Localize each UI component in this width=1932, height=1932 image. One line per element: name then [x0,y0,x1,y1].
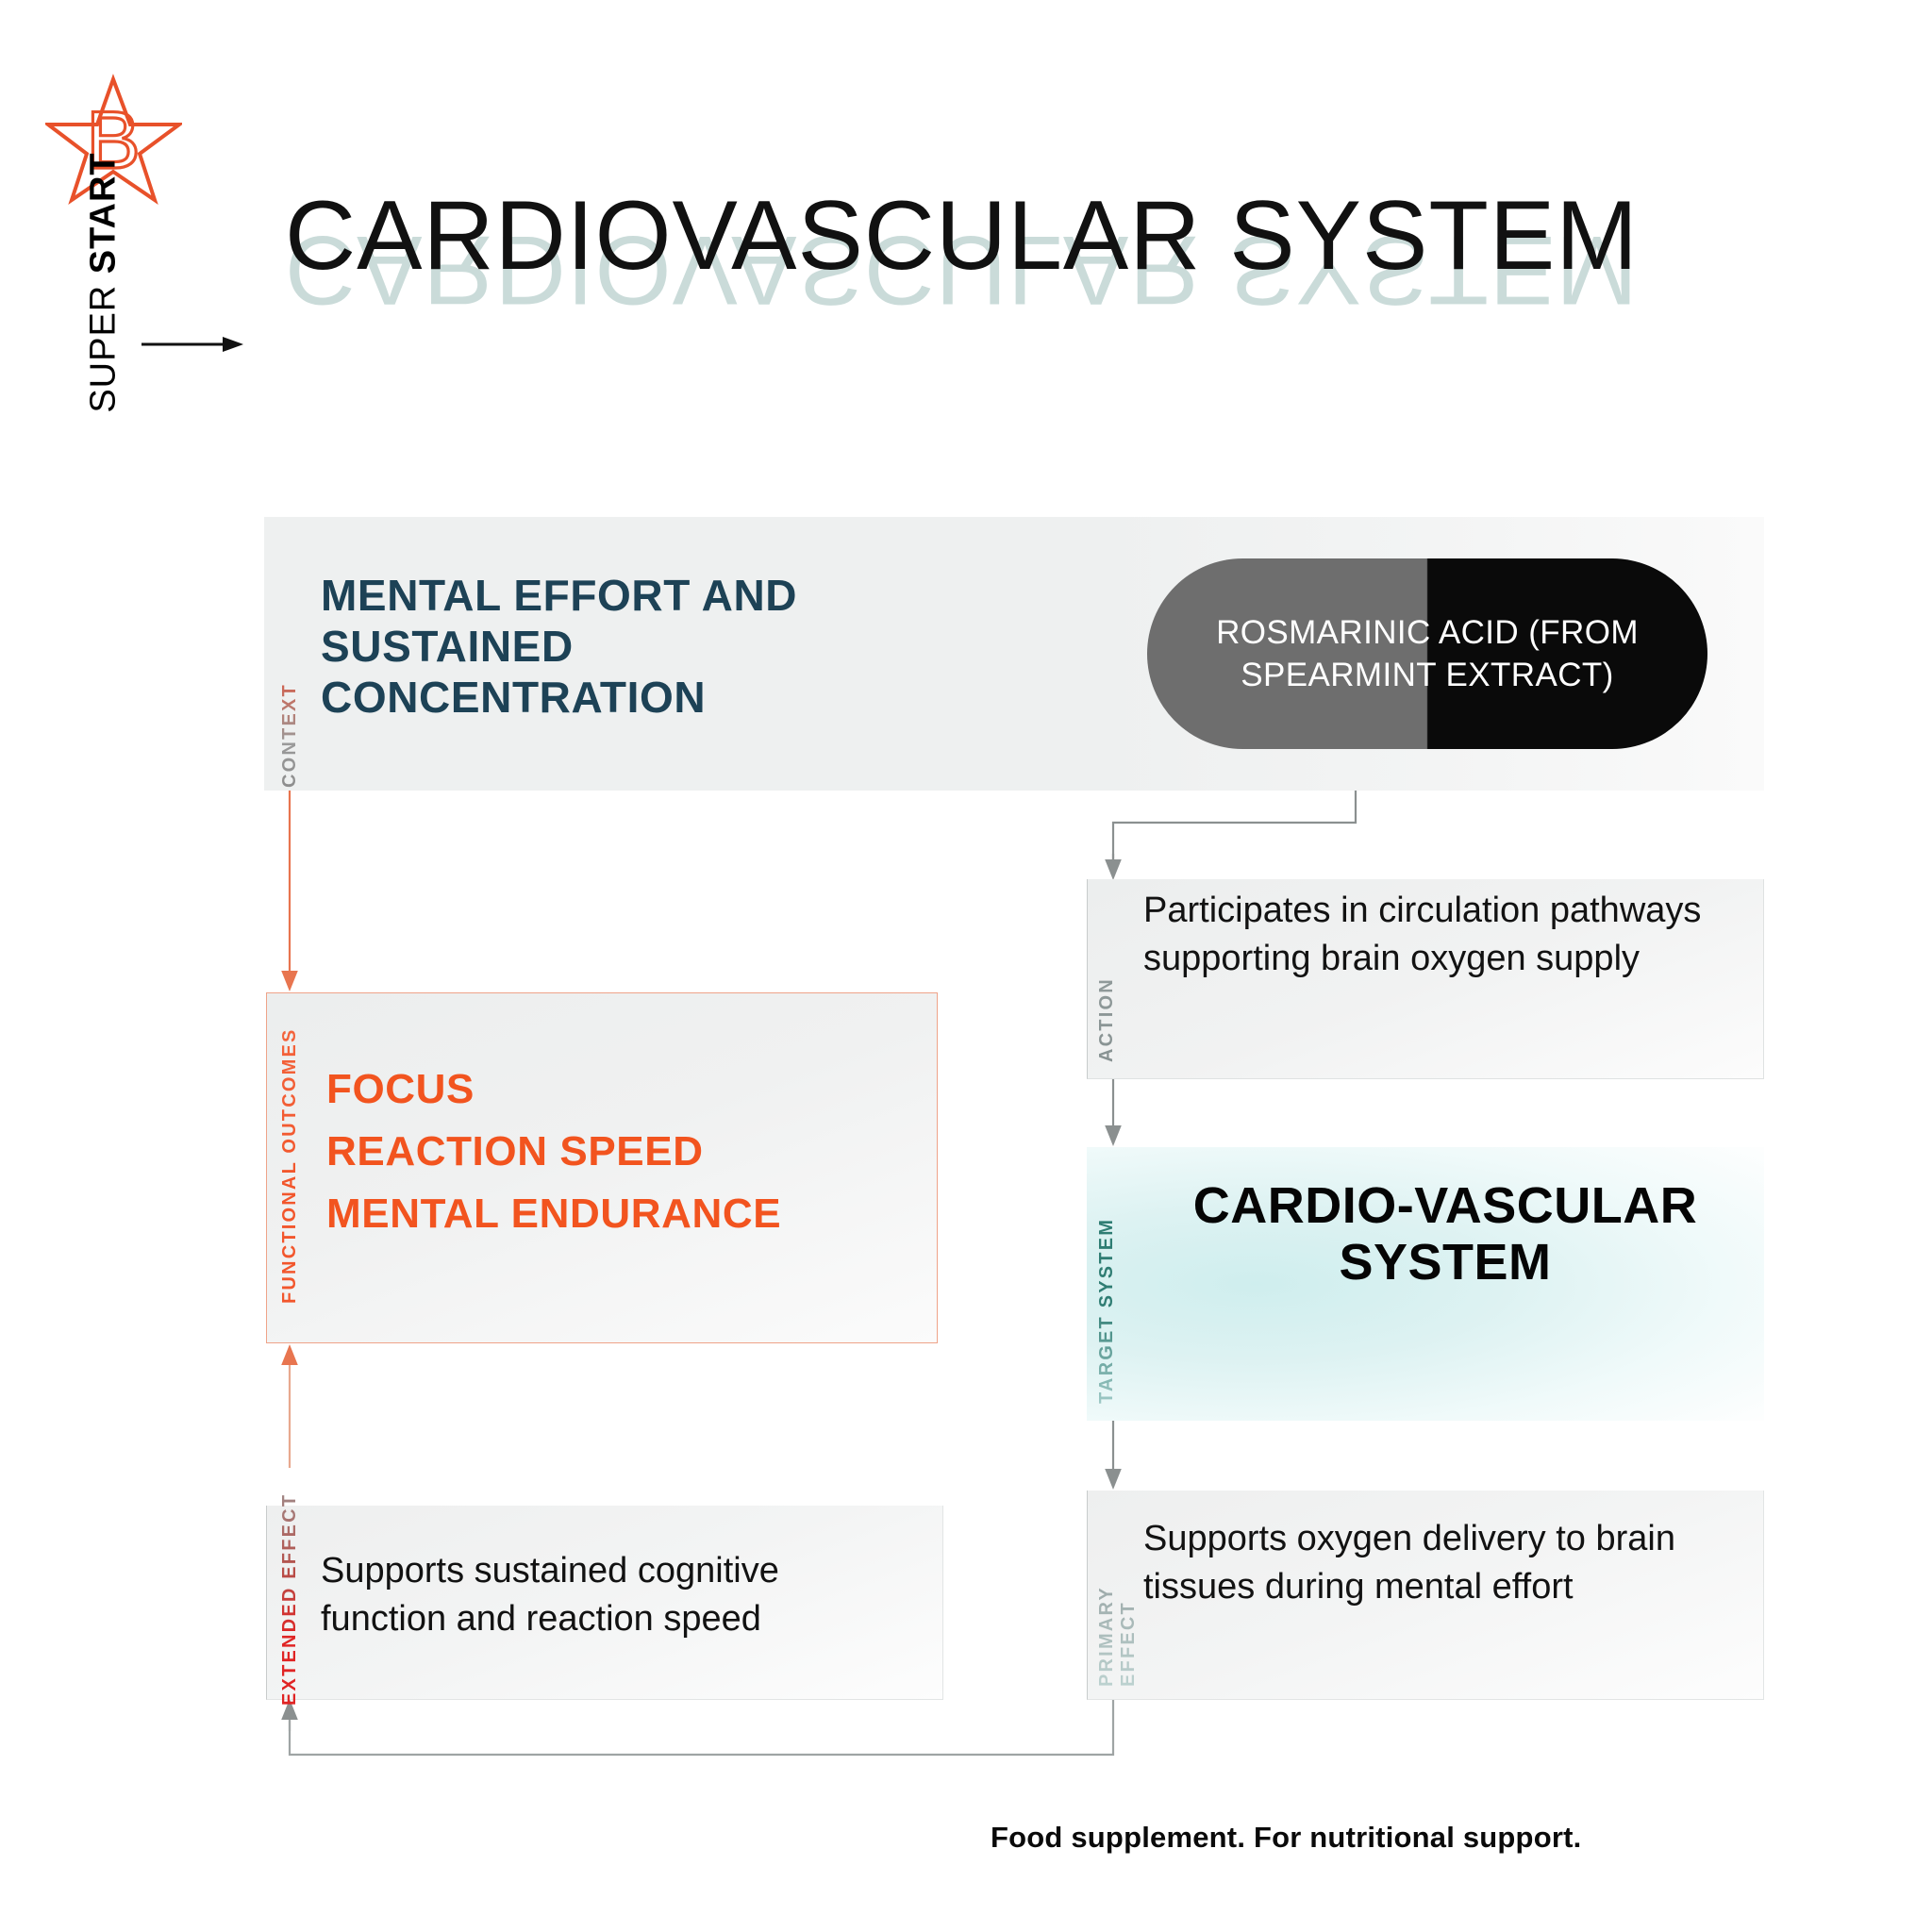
action-description: Participates in circulation pathways sup… [1143,887,1747,982]
primary-effect-description: Supports oxygen delivery to brain tissue… [1143,1515,1747,1610]
functional-outcomes-section-label: FUNCTIONAL OUTCOMES [279,1000,301,1304]
brand-word-bold: START [84,152,124,274]
extended-effect-description: Supports sustained cognitive function an… [321,1547,906,1642]
context-section-label: CONTEXT [279,585,301,788]
wire-primary-to-extended [290,1700,1113,1755]
extended-effect-section-label: EXTENDED EFFECT [279,1468,301,1706]
list-item: FOCUS [326,1058,911,1121]
ingredient-capsule[interactable]: ROSMARINIC ACID (FROM SPEARMINT EXTRACT) [1147,558,1707,749]
target-system-name: CARDIO-VASCULAR SYSTEM [1143,1177,1747,1291]
brand-wordmark: SUPER START [84,142,125,425]
action-section-label: ACTION [1096,896,1118,1062]
primary-effect-section-label: PRIMARY EFFECT [1096,1506,1140,1687]
page-title: CARDIOVASCULAR SYSTEM [285,187,1639,285]
context-headline: MENTAL EFFORT AND SUSTAINED CONCENTRATIO… [321,571,830,723]
functional-outcomes-list: FOCUS REACTION SPEED MENTAL ENDURANCE [326,1058,911,1245]
list-item: REACTION SPEED [326,1121,911,1183]
list-item: MENTAL ENDURANCE [326,1183,911,1245]
target-system-section-label: TARGET SYSTEM [1096,1181,1118,1404]
ingredient-label: ROSMARINIC ACID (FROM SPEARMINT EXTRACT) [1147,558,1707,749]
page-title-wrapper: CARDIOVASCULAR SYSTEM CARDIOVASCULAR SYS… [200,130,1898,300]
arrow-right-icon [142,334,245,355]
footer-disclaimer: Food supplement. For nutritional support… [991,1821,1840,1855]
brand-word-light: SUPER [84,274,124,412]
brand-block: B SUPER START [36,74,206,508]
